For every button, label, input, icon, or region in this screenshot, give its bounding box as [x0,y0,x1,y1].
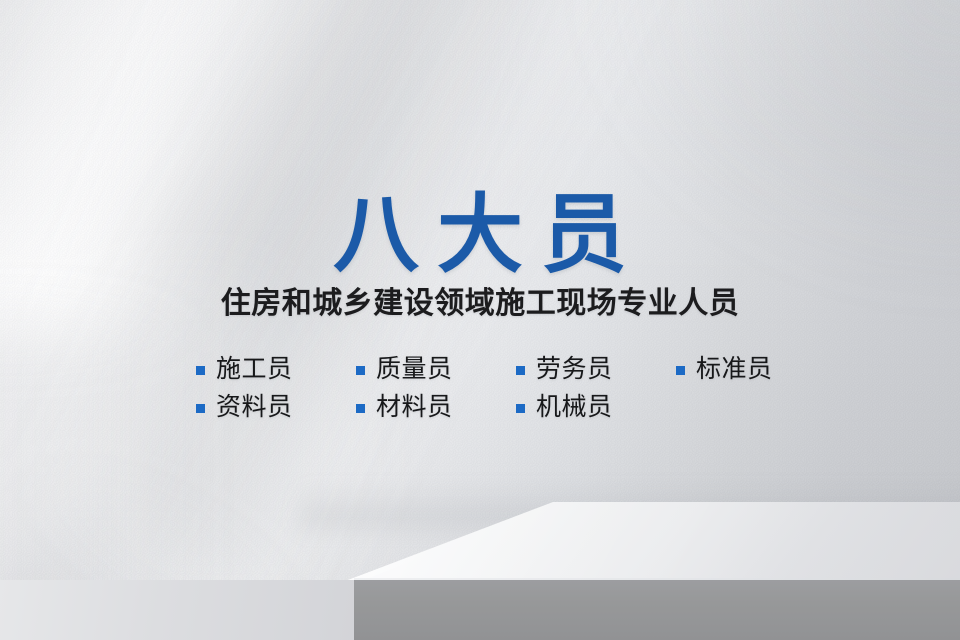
square-bullet-icon [516,366,525,375]
role-item-cailiaoyuan[interactable]: 材料员 [356,395,516,420]
role-item-biaozhunyuan[interactable]: 标准员 [676,357,836,382]
role-item-shigongyuan[interactable]: 施工员 [196,357,356,382]
role-label: 资料员 [216,395,293,420]
role-label: 劳务员 [536,357,613,382]
role-row: 资料员 材料员 机械员 [196,388,796,426]
role-label: 施工员 [216,357,293,382]
role-label: 标准员 [696,357,773,382]
page-subtitle: 住房和城乡建设领域施工现场专业人员 [0,286,960,322]
role-item-jixieyuan[interactable]: 机械员 [516,395,676,420]
square-bullet-icon [676,366,685,375]
role-item-laowuyuan[interactable]: 劳务员 [516,357,676,382]
role-label: 质量员 [376,357,453,382]
role-list: 施工员 质量员 劳务员 标准员 资料员 [196,350,796,426]
role-row: 施工员 质量员 劳务员 标准员 [196,350,796,388]
square-bullet-icon [516,404,525,413]
role-item-ziliaoyuan[interactable]: 资料员 [196,395,356,420]
square-bullet-icon [196,404,205,413]
page-title: 八大员 [0,192,960,278]
poster-content: 八大员 住房和城乡建设领域施工现场专业人员 施工员 质量员 劳务员 [0,0,960,640]
square-bullet-icon [356,404,365,413]
role-label: 材料员 [376,395,453,420]
role-item-zhiliangyuan[interactable]: 质量员 [356,357,516,382]
square-bullet-icon [356,366,365,375]
role-label: 机械员 [536,395,613,420]
poster-canvas: 八大员 住房和城乡建设领域施工现场专业人员 施工员 质量员 劳务员 [0,0,960,640]
square-bullet-icon [196,366,205,375]
